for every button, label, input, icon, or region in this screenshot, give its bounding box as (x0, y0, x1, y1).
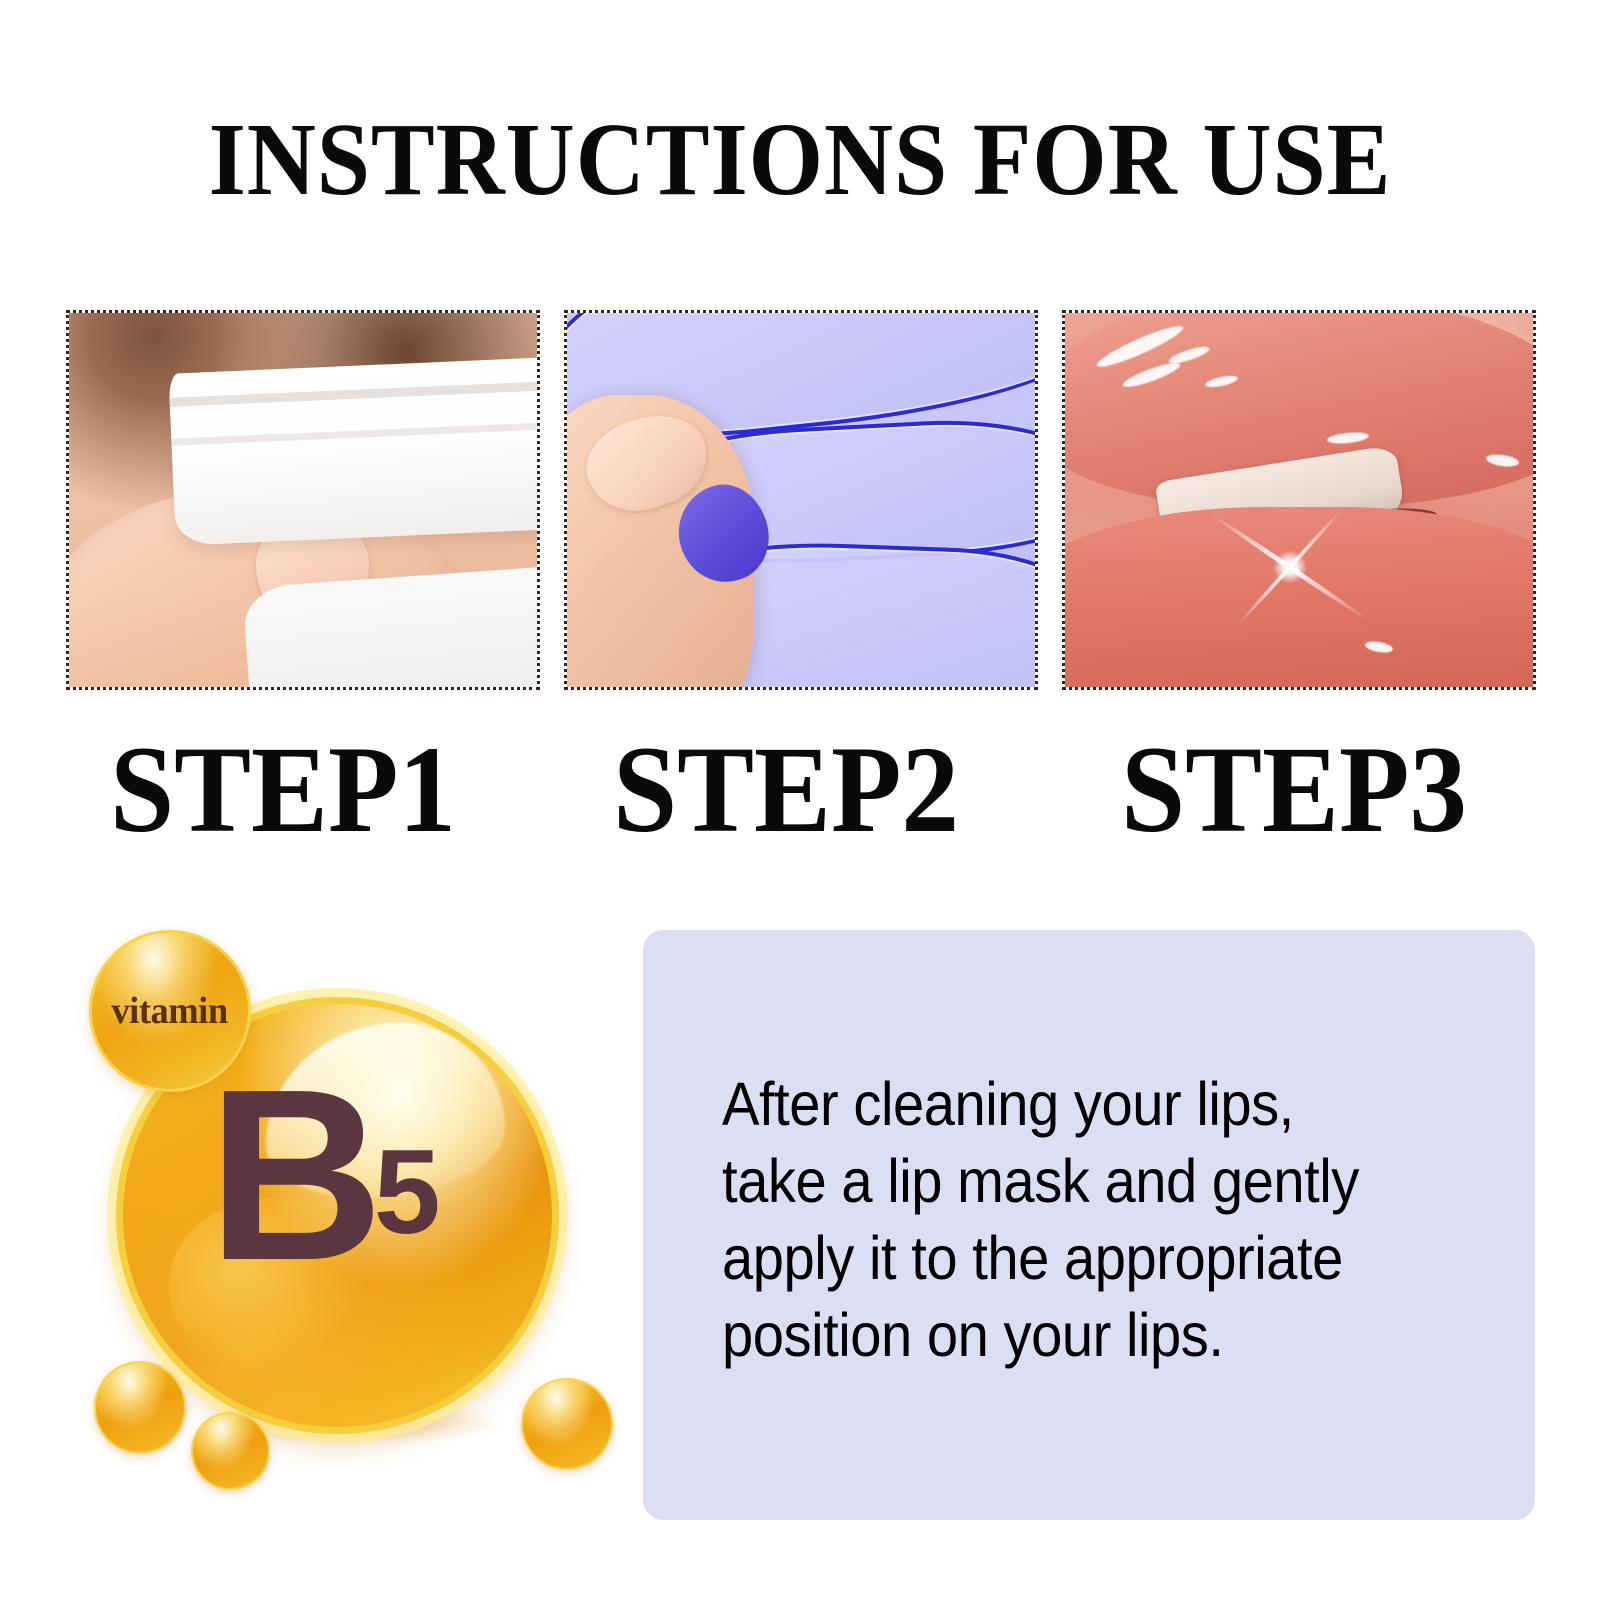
oil-droplet-icon (191, 1412, 269, 1490)
lower-lip-shape (1065, 507, 1533, 687)
vitamin-b5-emblem: B5 vitamin (78, 930, 618, 1490)
vitamin-badge-bubble: vitamin (89, 930, 251, 1092)
vitamin-subscript: 5 (374, 1125, 441, 1259)
description-text: After cleaning your lips, take a lip mas… (722, 1066, 1403, 1374)
step-label-2: STEP2 (613, 735, 959, 845)
glossy-lips-photo (1062, 310, 1536, 690)
lip-mask-patch-photo (564, 310, 1038, 690)
step-label-3: STEP3 (1121, 735, 1467, 845)
vitamin-badge-label: vitamin (112, 989, 228, 1033)
vitamin-letter-group: B5 (208, 1053, 447, 1297)
oil-droplet-icon (521, 1378, 613, 1470)
step-images-row (66, 310, 1536, 690)
step-captions-row: STEP1 STEP2 STEP3 (66, 735, 1536, 855)
cotton-pad-shape (168, 357, 537, 546)
instructions-page: INSTRUCTIONS FOR USE (0, 0, 1600, 1600)
description-panel: After cleaning your lips, take a lip mas… (643, 930, 1535, 1520)
step-cell-3 (1062, 310, 1536, 690)
vitamin-letter: B (208, 1038, 380, 1311)
oil-droplet-icon (94, 1361, 186, 1453)
page-title: INSTRUCTIONS FOR USE (64, 108, 1536, 212)
cotton-pad-cleansing-photo (66, 310, 540, 690)
sparkle-core-icon (1273, 550, 1307, 584)
step-cell-1 (66, 310, 540, 690)
step-cell-2 (564, 310, 1038, 690)
step-label-1: STEP1 (110, 735, 456, 845)
